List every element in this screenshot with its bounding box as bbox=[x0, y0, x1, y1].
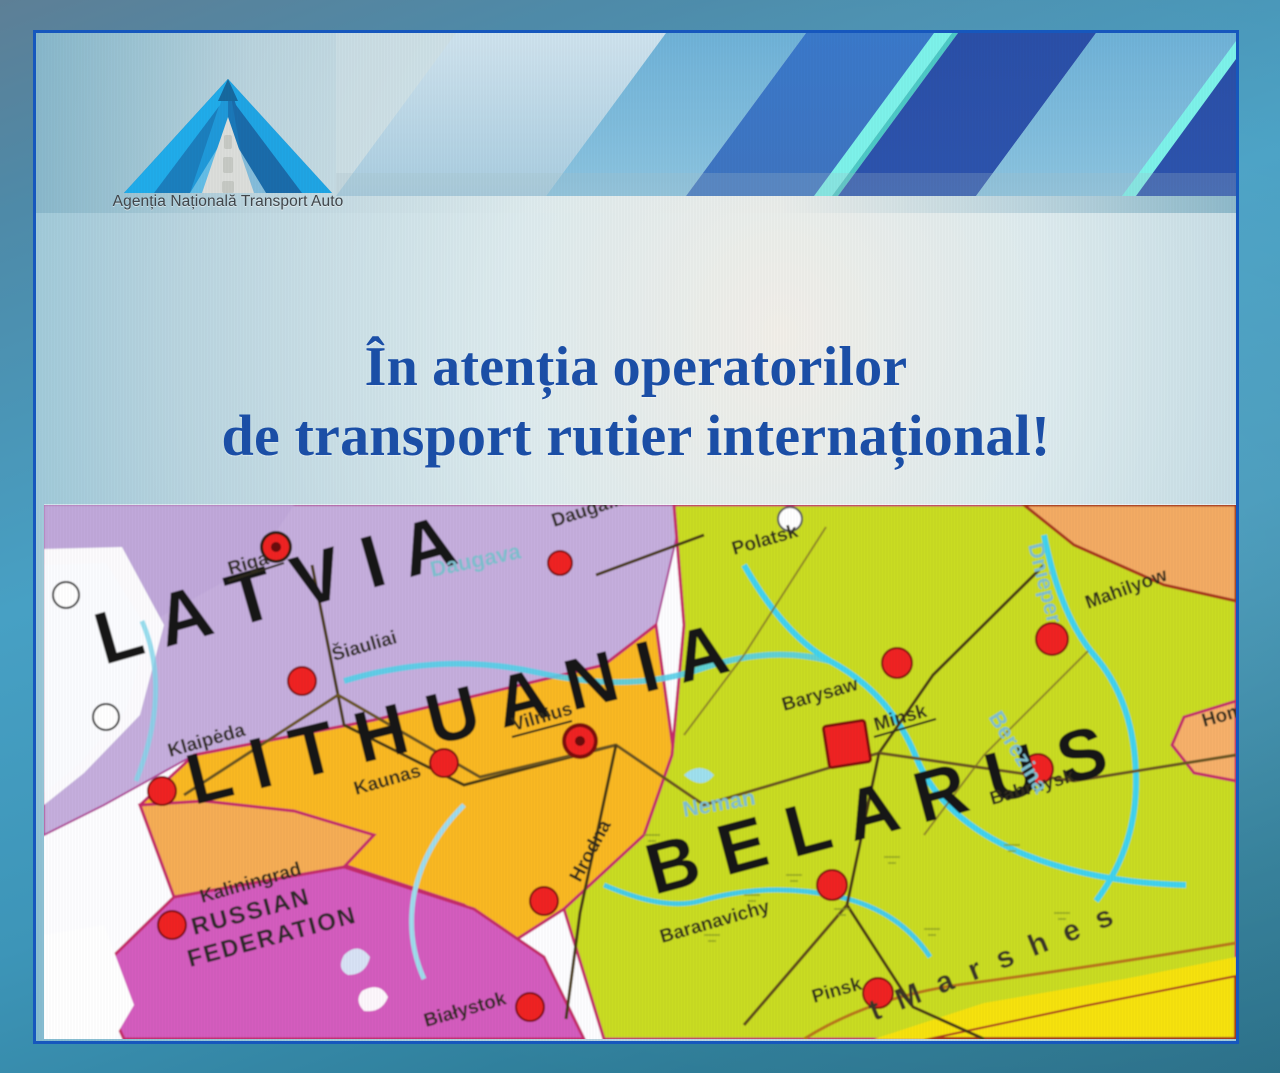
diagonal-stripe-banner bbox=[336, 33, 1236, 196]
logo-caption: Agenția Națională Transport Auto bbox=[98, 193, 358, 211]
agency-logo: Agenția Națională Transport Auto bbox=[98, 71, 358, 237]
page-title: În atenția operatorilor de transport rut… bbox=[36, 333, 1236, 472]
headline-line-2: de transport rutier internațional! bbox=[36, 401, 1236, 472]
slide-body: Agenția Națională Transport Auto În aten… bbox=[36, 33, 1236, 1041]
region-map-image: L A T V I A L I T H U A N I A B E L A R … bbox=[44, 505, 1236, 1039]
headline-line-1: În atenția operatorilor bbox=[36, 333, 1236, 401]
slide-canvas: Agenția Națională Transport Auto În aten… bbox=[0, 0, 1280, 1073]
triangle-logo-icon bbox=[98, 71, 358, 201]
